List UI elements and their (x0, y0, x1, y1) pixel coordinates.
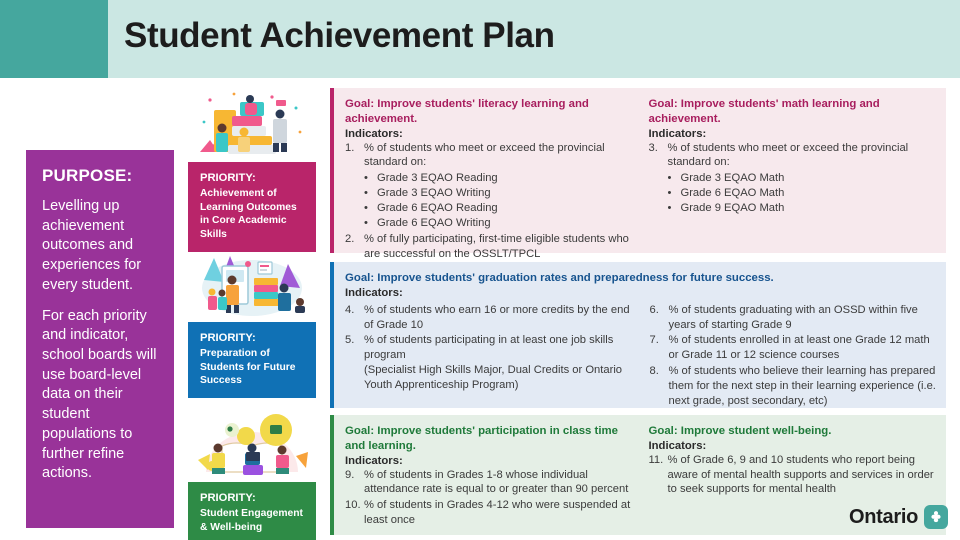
indicator-text: % of students graduating with an OSSD wi… (669, 303, 937, 333)
indicator-number: 8. (650, 364, 669, 408)
graduation-column-left: 4. % of students who earn 16 or more cre… (345, 302, 642, 408)
purpose-paragraph-2: For each priority and indicator, school … (42, 307, 160, 484)
indicator-item: 5. % of students participating in at lea… (345, 333, 632, 392)
indicator-item: 8. % of students who believe their learn… (650, 364, 937, 408)
indicator-text: % of students participating in at least … (364, 334, 613, 361)
sub-item: •Grade 6 EQAO Math (668, 186, 937, 201)
priority-box-academic: PRIORITY: Achievement of Learning Outcom… (188, 162, 316, 252)
indicator-number: 7. (650, 333, 669, 363)
indicator-item: 9. % of students in Grades 1-8 whose ind… (345, 468, 633, 498)
indicator-text: % of students who believe their learning… (669, 364, 937, 408)
indicators-label: Indicators: (649, 440, 937, 452)
page-title: Student Achievement Plan (124, 16, 555, 56)
indicator-item: 4. % of students who earn 16 or more cre… (345, 303, 632, 333)
indicator-item: 1. % of students who meet or exceed the … (345, 141, 633, 232)
indicator-list-graduation-right: 6. % of students graduating with an OSSD… (650, 303, 937, 408)
indicator-text: % of Grade 6, 9 and 10 students who repo… (668, 453, 937, 497)
sub-item-text: Grade 6 EQAO Math (681, 186, 785, 201)
indicator-text: % of students who meet or exceed the pro… (668, 142, 909, 169)
indicator-sublist: •Grade 3 EQAO Reading •Grade 3 EQAO Writ… (364, 171, 633, 231)
indicators-label: Indicators: (345, 287, 938, 299)
indicator-list-graduation-left: 4. % of students who earn 16 or more cre… (345, 303, 632, 393)
priority-group-academic: PRIORITY: Achievement of Learning Outcom… (188, 88, 316, 252)
bullet-icon: • (364, 186, 377, 201)
purpose-paragraph-1: Levelling up achievement outcomes and ex… (42, 197, 160, 296)
goal-column-participation: Goal: Improve students' participation in… (345, 424, 641, 527)
indicator-text: % of fully participating, first-time eli… (364, 232, 633, 262)
sub-item-text: Grade 6 EQAO Reading (377, 201, 498, 216)
indicator-list-math: 3. % of students who meet or exceed the … (649, 141, 937, 217)
priority-box-engagement: PRIORITY: Student Engagement & Well-bein… (188, 482, 316, 540)
bullet-icon: • (364, 171, 377, 186)
students-collaborating-illustration (188, 408, 316, 482)
indicator-item: 2. % of fully participating, first-time … (345, 232, 633, 262)
indicator-text: % of students enrolled in at least one G… (669, 333, 937, 363)
priority-label: PRIORITY: (200, 491, 307, 506)
sub-item: •Grade 3 EQAO Writing (364, 186, 633, 201)
sub-item-text: Grade 6 EQAO Writing (377, 216, 491, 231)
header-accent-block (0, 0, 108, 78)
indicator-number: 9. (345, 468, 364, 498)
priority-name: Achievement of Learning Outcomes in Core… (200, 188, 297, 240)
indicator-text: % of students who earn 16 or more credit… (364, 303, 632, 333)
priority-box-future: PRIORITY: Preparation of Students for Fu… (188, 322, 316, 398)
indicators-label: Indicators: (649, 128, 937, 140)
sub-item-text: Grade 3 EQAO Reading (377, 171, 498, 186)
header-band: Student Achievement Plan (0, 0, 960, 78)
students-at-whiteboard-illustration (188, 248, 316, 322)
indicator-number: 11. (649, 453, 668, 497)
goal-heading-participation: Goal: Improve students' participation in… (345, 424, 633, 454)
indicator-item: 10. % of students in Grades 4-12 who wer… (345, 498, 633, 528)
goal-panel-academic: Goal: Improve students' literacy learnin… (330, 88, 946, 253)
indicator-item: 6. % of students graduating with an OSSD… (650, 303, 937, 333)
goal-heading-math: Goal: Improve students' math learning an… (649, 97, 937, 127)
priority-name: Student Engagement & Well-being (200, 508, 303, 533)
indicator-text: % of students who meet or exceed the pro… (364, 142, 605, 169)
indicator-item: 3. % of students who meet or exceed the … (649, 141, 937, 217)
sub-item-text: Grade 3 EQAO Math (681, 171, 785, 186)
sub-item: •Grade 6 EQAO Reading (364, 201, 633, 216)
indicator-number: 4. (345, 303, 364, 333)
goal-heading-graduation: Goal: Improve students' graduation rates… (345, 271, 938, 286)
bullet-icon: • (364, 216, 377, 231)
sub-item-text: Grade 3 EQAO Writing (377, 186, 491, 201)
students-with-books-illustration (188, 88, 316, 162)
indicator-number: 6. (650, 303, 669, 333)
trillium-icon (924, 505, 948, 529)
goal-column-literacy: Goal: Improve students' literacy learnin… (345, 97, 641, 245)
indicator-text: % of students in Grades 1-8 whose indivi… (364, 468, 633, 498)
indicator-item: 11. % of Grade 6, 9 and 10 students who … (649, 453, 937, 497)
indicator-text: % of students in Grades 4-12 who were su… (364, 498, 633, 528)
sub-item: •Grade 9 EQAO Math (668, 201, 937, 216)
bullet-icon: • (668, 186, 681, 201)
priority-group-future: PRIORITY: Preparation of Students for Fu… (188, 248, 316, 398)
indicator-list-participation: 9. % of students in Grades 1-8 whose ind… (345, 468, 633, 528)
graduation-column-right: 6. % of students graduating with an OSSD… (642, 302, 939, 408)
priority-group-engagement: PRIORITY: Student Engagement & Well-bein… (188, 408, 316, 540)
bullet-icon: • (364, 201, 377, 216)
indicator-sublist: •Grade 3 EQAO Math •Grade 6 EQAO Math •G… (668, 171, 937, 216)
student-achievement-plan-page: Student Achievement Plan PURPOSE: Levell… (0, 0, 960, 540)
goal-column-math: Goal: Improve students' math learning an… (641, 97, 939, 245)
sub-item: •Grade 3 EQAO Reading (364, 171, 633, 186)
bullet-icon: • (668, 201, 681, 216)
indicators-label: Indicators: (345, 455, 633, 467)
indicator-number: 1. (345, 141, 364, 232)
indicator-list-wellbeing: 11. % of Grade 6, 9 and 10 students who … (649, 453, 937, 497)
priority-name: Preparation of Students for Future Succe… (200, 348, 296, 386)
indicator-number: 10. (345, 498, 364, 528)
goal-heading-literacy: Goal: Improve students' literacy learnin… (345, 97, 633, 127)
purpose-box: PURPOSE: Levelling up achievement outcom… (26, 150, 174, 528)
sub-item: •Grade 3 EQAO Math (668, 171, 937, 186)
indicator-number: 3. (649, 141, 668, 217)
bullet-icon: • (668, 171, 681, 186)
goal-heading-wellbeing: Goal: Improve student well-being. (649, 424, 937, 439)
priority-label: PRIORITY: (200, 171, 307, 186)
priority-label: PRIORITY: (200, 331, 307, 346)
indicators-label: Indicators: (345, 128, 633, 140)
sub-item-text: Grade 9 EQAO Math (681, 201, 785, 216)
ontario-wordmark: Ontario (849, 506, 918, 529)
ontario-logo: Ontario (849, 505, 948, 529)
indicator-item: 7. % of students enrolled in at least on… (650, 333, 937, 363)
sub-item: •Grade 6 EQAO Writing (364, 216, 633, 231)
indicator-note: (Specialist High Skills Major, Dual Cred… (364, 363, 632, 393)
indicator-number: 2. (345, 232, 364, 262)
goal-panel-graduation: Goal: Improve students' graduation rates… (330, 262, 946, 408)
indicator-list-literacy: 1. % of students who meet or exceed the … (345, 141, 633, 262)
purpose-title: PURPOSE: (42, 166, 160, 186)
indicator-number: 5. (345, 333, 364, 392)
